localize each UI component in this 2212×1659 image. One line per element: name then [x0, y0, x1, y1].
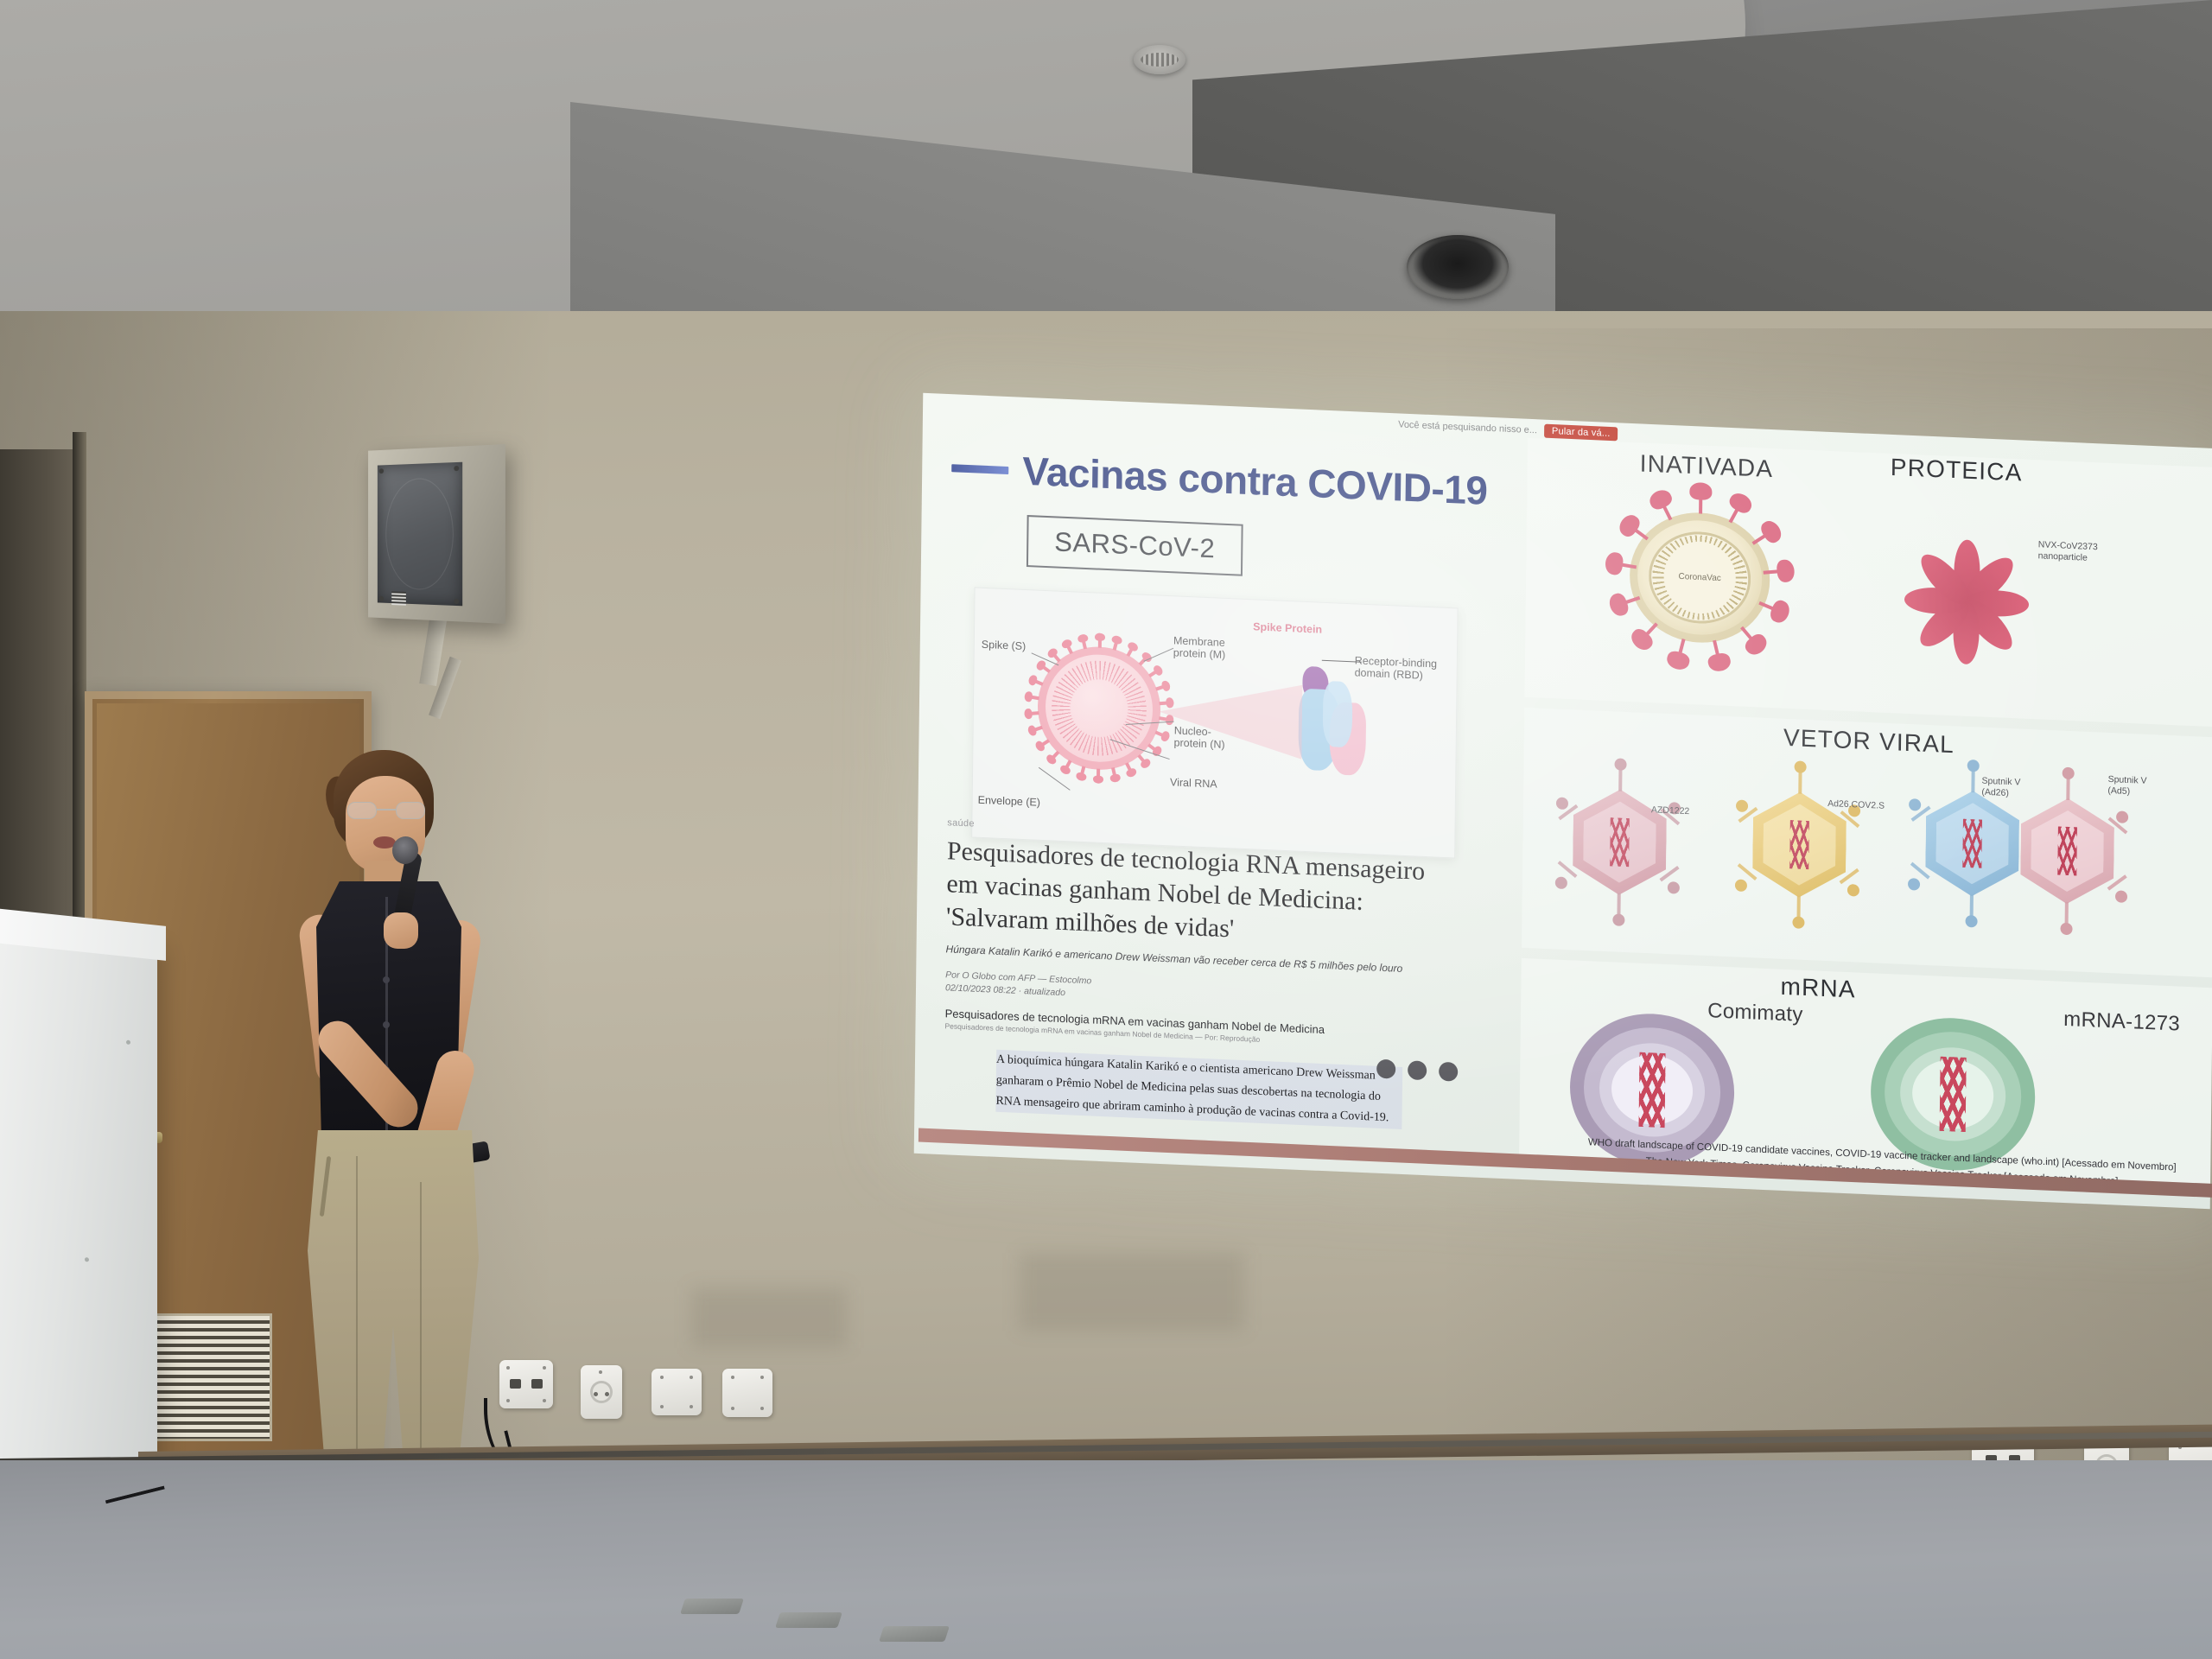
eyeglasses [346, 802, 427, 819]
capsid-knob [2060, 923, 2072, 936]
protein-subunit-icon [1897, 530, 2037, 674]
title-accent-dash [951, 464, 1008, 474]
wall-left-dark-panel [0, 449, 79, 933]
projection-screen: Você está pesquisando nisso e... Pular d… [914, 393, 2212, 1210]
capsid-knob [1614, 758, 1626, 771]
mrna-helix [1940, 1057, 1967, 1132]
capsid-knob [1967, 760, 1980, 772]
mrna-helix [1639, 1052, 1666, 1128]
wall-speaker [368, 444, 505, 624]
slide-right-column: INATIVADA PROTEICA CoronaVac NVX-CoV2373… [1519, 438, 2212, 1209]
capsid-knob [1668, 881, 1680, 894]
spike-chain-lightblue [1323, 681, 1353, 747]
smoke-detector [1134, 45, 1185, 74]
section-title-mrna: mRNA [1780, 973, 1856, 1004]
eyeglass-lens-left [347, 802, 377, 819]
dna-strand [1962, 819, 1982, 868]
carousel-dot[interactable] [1376, 1059, 1395, 1079]
speaker-screw [379, 596, 384, 601]
label-sputnik-ad5: Sputnik V (Ad5) [2107, 774, 2164, 798]
capsid-knob [2116, 810, 2128, 823]
capsid-fiber [2066, 776, 2069, 800]
nucleoprotein-strands [1051, 658, 1147, 758]
eyeglass-lens-right [396, 802, 425, 819]
speaker-grille [378, 462, 462, 607]
wall-smudge [1020, 1253, 1244, 1331]
lectern-screw [126, 1040, 130, 1045]
wall-plate-blank [652, 1369, 702, 1415]
wall-plate-blank [722, 1369, 772, 1417]
protein-petals [1897, 530, 2037, 674]
speaker-badge [391, 591, 406, 605]
capsid-sputnik-ad5 [2006, 784, 2129, 918]
sars-cov-2-box: SARS-CoV-2 [1027, 515, 1243, 576]
carousel-dot[interactable] [1439, 1062, 1458, 1082]
carousel-dot[interactable] [1408, 1060, 1427, 1080]
label-spike-protein-title: Spike Protein [1253, 620, 1322, 635]
label-spike-s: Spike (S) [982, 639, 1027, 652]
label-rbd: Receptor-binding domain (RBD) [1355, 654, 1441, 682]
dna-strand [2057, 826, 2077, 875]
slide-title-row: Vacinas contra COVID-19 [951, 444, 1497, 514]
label-membrane-protein: Membrane protein (M) [1173, 634, 1253, 662]
capsid-knob [1909, 798, 1921, 811]
capsid-ad26 [1738, 778, 1861, 912]
label-nucleoprotein: Nucleo-protein (N) [1173, 724, 1229, 751]
wall-smudge [691, 1287, 847, 1348]
capsid-fiber [1971, 768, 1974, 792]
floor-access-panel [680, 1599, 744, 1614]
label-comirnaty: Comimaty [1707, 999, 1803, 1028]
capsid-fiber [1798, 770, 1802, 794]
carousel-dots[interactable] [1376, 1059, 1458, 1082]
floor-access-panel [775, 1612, 842, 1628]
news-article-block: saúde Pesquisadores de tecnologia RNA me… [944, 817, 1500, 1134]
presenter [259, 750, 518, 1545]
switch-rocker[interactable] [531, 1379, 543, 1389]
label-mrna-1273: mRNA-1273 [2063, 1007, 2180, 1038]
vest-button [383, 976, 390, 983]
floor-access-panel [879, 1626, 950, 1642]
sars-cov-2-diagram-card: Spike (S) Membrane protein (M) Nucleo-pr… [971, 587, 1458, 858]
dna-strand [1610, 817, 1630, 867]
label-coronavac: CoronaVac [1678, 572, 1720, 583]
label-envelope-e: Envelope (E) [978, 794, 1040, 809]
capsid-knob [1735, 879, 1747, 892]
capsid-knob [1612, 913, 1624, 926]
browser-tab-text: Você está pesquisando nisso e... [1398, 419, 1537, 435]
news-headline: Pesquisadores de tecnologia RNA mensagei… [946, 835, 1500, 957]
dna-strand [1789, 820, 1809, 869]
capsid-knob [2115, 890, 2127, 903]
floor [0, 1460, 2212, 1659]
eyeglass-bridge [377, 809, 396, 810]
capsid-knob [2063, 767, 2075, 780]
section-title-proteica: PROTEICA [1891, 454, 2023, 487]
news-highlighted-paragraph: A bioquímica húngara Katalin Karikó e o … [995, 1050, 1402, 1129]
label-nvx-cov2373: NVX-CoV2373 nanoparticle [2038, 539, 2133, 565]
spike-protein-structure [1294, 665, 1370, 778]
capsid-knob [1965, 915, 1977, 928]
auditorium-scene: Você está pesquisando nisso e... Pular d… [0, 0, 2212, 1659]
slide-title: Vacinas contra COVID-19 [1022, 448, 1488, 514]
capsid-fiber [1618, 767, 1622, 791]
capsid-azd1222 [1559, 775, 1681, 910]
trouser-fold [356, 1156, 358, 1467]
vest-button [383, 1021, 390, 1028]
capsid-knob [1556, 797, 1568, 810]
label-azd1222: AZD1222 [1651, 804, 1690, 817]
switch-rocker[interactable] [510, 1379, 521, 1389]
hand-left [384, 912, 418, 949]
section-title-inativada: INATIVADA [1640, 449, 1774, 483]
recessed-downlight [1407, 235, 1509, 299]
lectern-screw [85, 1257, 89, 1262]
panel-inactivated-protein [1524, 438, 2212, 727]
trouser-fold [420, 1182, 422, 1467]
label-viral-rna: Viral RNA [1170, 776, 1217, 790]
capsid-knob [1736, 799, 1748, 812]
capsid-knob [1795, 760, 1807, 773]
capsid-knob [1908, 878, 1920, 891]
capsid-knob [1847, 884, 1859, 897]
capsid-knob [1792, 916, 1804, 929]
capsid-knob [1555, 876, 1567, 889]
speaker-screw [454, 599, 459, 604]
lectern [0, 930, 157, 1544]
slide-left-column: Vacinas contra COVID-19 SARS-CoV-2 [914, 419, 1519, 1179]
